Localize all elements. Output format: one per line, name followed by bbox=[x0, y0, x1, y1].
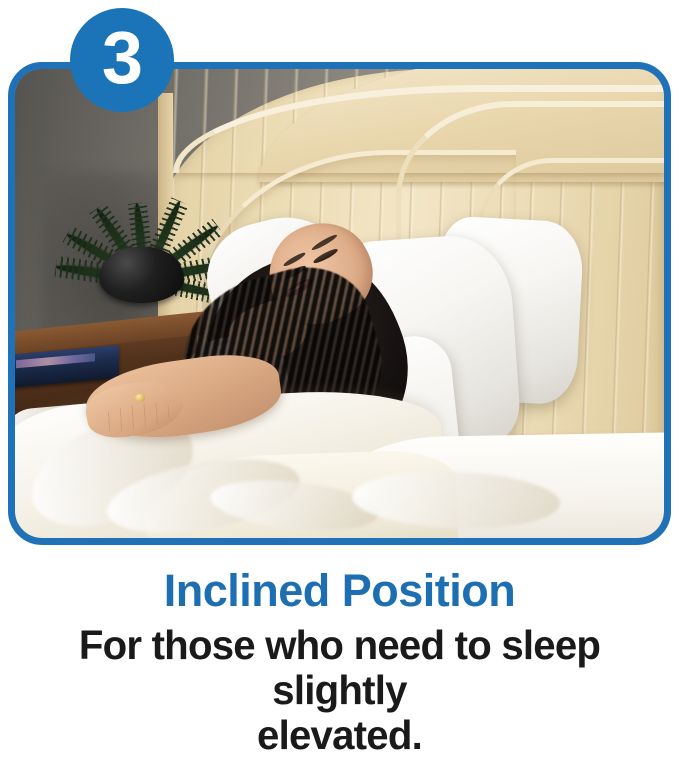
framed-photo-card bbox=[8, 62, 671, 545]
step-number-badge: 3 bbox=[70, 8, 174, 112]
caption-block: Inclined Position For those who need to … bbox=[0, 566, 679, 758]
black-vase bbox=[99, 247, 183, 303]
position-description: For those who need to sleep slightly ele… bbox=[7, 623, 672, 758]
description-line-2: elevated. bbox=[7, 713, 672, 758]
description-line-1: For those who need to sleep slightly bbox=[7, 623, 672, 713]
gold-ring bbox=[135, 394, 145, 401]
step-number-label: 3 bbox=[102, 21, 142, 95]
bedroom-photo bbox=[15, 69, 664, 538]
position-title: Inclined Position bbox=[0, 566, 679, 615]
